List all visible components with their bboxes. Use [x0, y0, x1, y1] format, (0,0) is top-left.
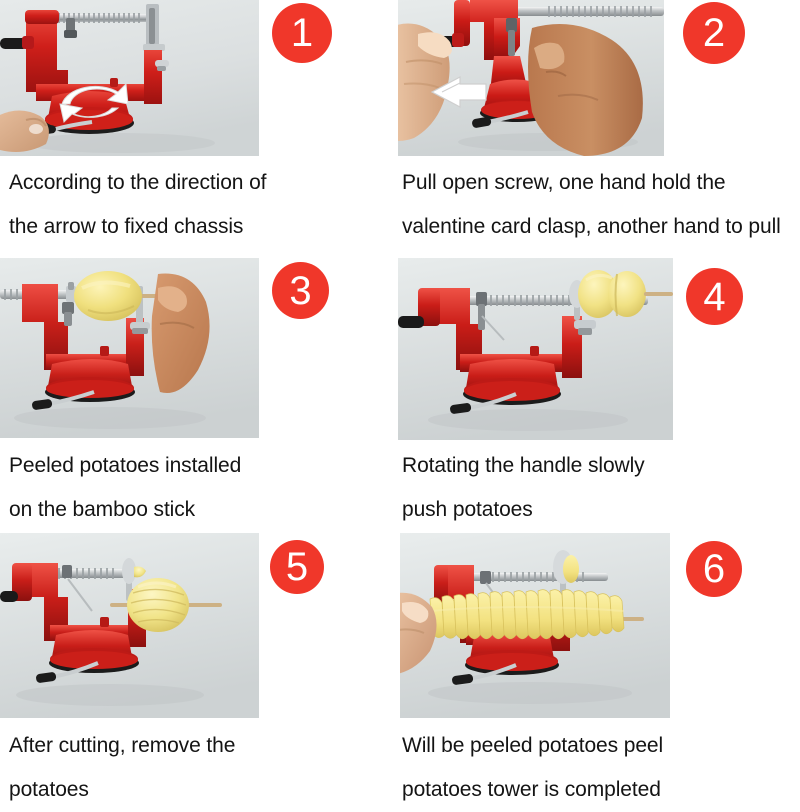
step-panel-6: 6 Will be peeled potatoes peel potatoes …	[398, 533, 800, 800]
step-caption-4: Rotating the handle slowly push potatoes	[402, 444, 800, 532]
step-caption-5: After cutting, remove the potatoes	[9, 724, 394, 812]
step-photo-6	[400, 533, 670, 718]
step-panel-5: 5 After cutting, remove the potatoes	[0, 533, 398, 800]
step-badge-number: 5	[286, 547, 308, 587]
step-panel-3: 3 Peeled potatoes installed on the bambo…	[0, 258, 398, 530]
step-photo-4	[398, 258, 673, 440]
illustration-two-hands-pull-back	[398, 0, 664, 156]
illustration-machine-with-rotation-arrow	[0, 0, 259, 156]
step-panel-1: 1 According to the direction of the arro…	[0, 0, 398, 255]
step-panel-4: 4 Rotating the handle slowly push potato…	[398, 258, 800, 530]
step-caption-1: According to the direction of the arrow …	[9, 161, 394, 249]
step-photo-1	[0, 0, 259, 156]
illustration-rotating-handle	[398, 258, 673, 440]
step-badge-number: 4	[703, 277, 725, 317]
step-panel-2: 2 Pull open screw, one hand hold the val…	[398, 0, 800, 255]
step-badge-number: 2	[703, 13, 725, 53]
step-badge-5: 5	[270, 540, 324, 594]
step-badge-number: 6	[703, 549, 725, 589]
step-photo-5	[0, 533, 259, 718]
step-badge-6: 6	[686, 541, 742, 597]
illustration-finished-spiral-tower	[400, 533, 670, 718]
step-caption-6: Will be peeled potatoes peel potatoes to…	[402, 724, 800, 812]
instruction-sheet: 1 According to the direction of the arro…	[0, 0, 800, 800]
step-badge-number: 3	[289, 271, 311, 311]
step-badge-number: 1	[291, 13, 313, 53]
step-caption-3: Peeled potatoes installed on the bamboo …	[9, 444, 394, 532]
step-badge-3: 3	[272, 262, 329, 319]
step-badge-4: 4	[686, 268, 743, 325]
step-badge-2: 2	[683, 2, 745, 64]
illustration-potato-on-stick	[0, 258, 259, 438]
illustration-remove-potato	[0, 533, 259, 718]
step-photo-2	[398, 0, 664, 156]
step-badge-1: 1	[272, 3, 332, 63]
step-photo-3	[0, 258, 259, 438]
